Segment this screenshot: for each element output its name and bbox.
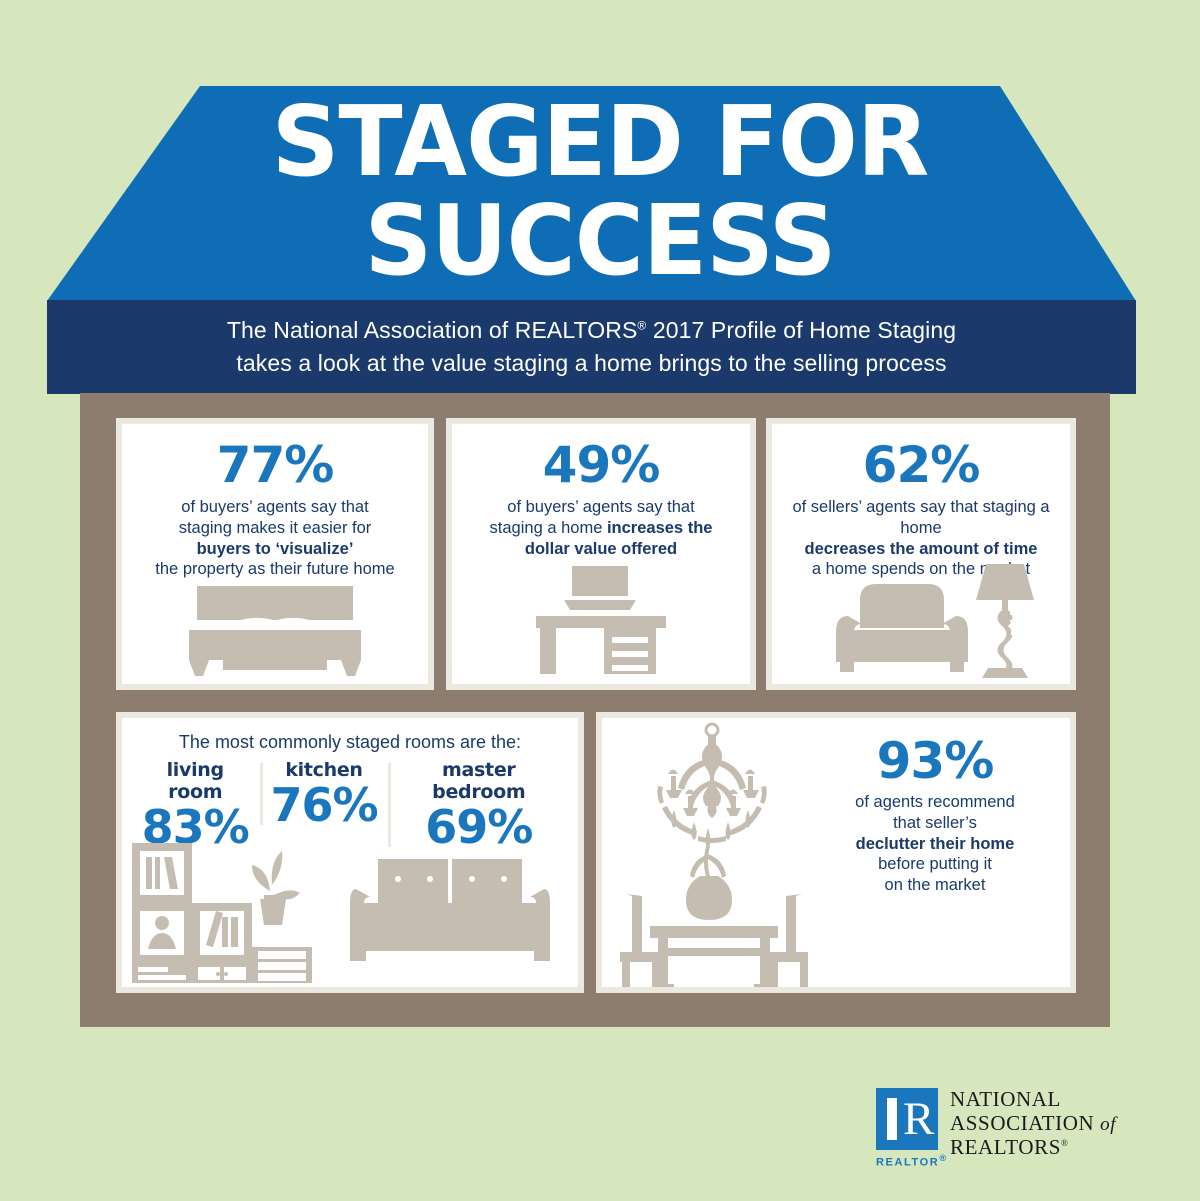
desc-line-4: before putting it (878, 855, 992, 873)
subtitle-line-1-b: 2017 Profile of Home Staging (646, 317, 956, 343)
desc-line-4: the property as their future home (155, 560, 394, 578)
desc-line-2: staging makes it easier for (179, 519, 372, 537)
realtor-wordmark: REALTOR® (876, 1153, 938, 1169)
armchair-lamp-icon (830, 556, 1040, 678)
logo-line-3-reg: ® (1061, 1138, 1068, 1148)
realtor-bar (887, 1098, 897, 1140)
stat-card-time-on-market: 62% of sellers’ agents say that staging … (766, 418, 1076, 690)
subtitle-line-2: takes a look at the value staging a home… (236, 347, 946, 380)
desc-line-2-bold: decreases the amount of time (805, 540, 1038, 558)
desc-line-2-a: staging a home (490, 519, 607, 537)
logo-line-2-italic: of (1100, 1114, 1116, 1135)
declutter-percent: 93% (822, 736, 1048, 786)
desc-line-3-bold: buyers to ‘visualize’ (197, 540, 354, 558)
realtor-wordmark-text: REALTOR (876, 1157, 939, 1169)
title-line-2: SUCCESS (18, 193, 1182, 288)
desc-line-3-bold: dollar value offered (525, 540, 677, 558)
subtitle-band: The National Association of REALTORS® 20… (47, 300, 1136, 394)
subtitle-line-1-a: The National Association of REALTORS (227, 317, 638, 343)
room-percent: 76% (270, 781, 377, 829)
room-master-bedroom: master bedroom 69% (388, 759, 570, 851)
logo-line-1: NATIONAL (950, 1088, 1116, 1112)
staged-rooms-card: The most commonly staged rooms are the: … (116, 712, 584, 993)
room-label: master bedroom (398, 759, 560, 803)
desc-line-2-bold: increases the (607, 519, 712, 537)
bed-icon-wrap (122, 582, 428, 678)
stat-description: of buyers’ agents say that staging makes… (122, 497, 428, 580)
logo-line-2: ASSOCIATION of (950, 1112, 1116, 1136)
logo-line-3-text: REALTORS (950, 1135, 1061, 1159)
desk-icon (526, 560, 676, 678)
realtor-mark: R REALTOR® (876, 1088, 938, 1169)
rooms-heading: The most commonly staged rooms are the: (122, 718, 578, 753)
declutter-description: of agents recommend that seller’s declut… (822, 792, 1048, 896)
bed-icon (175, 582, 375, 678)
desc-line-5: on the market (885, 876, 986, 894)
declutter-text: 93% of agents recommend that seller’s de… (822, 718, 1070, 987)
rooms-icon-group (122, 843, 578, 983)
armchair-lamp-icon-wrap (772, 556, 1070, 678)
chandelier-dining-icon (602, 718, 828, 987)
nar-logo-text: NATIONAL ASSOCIATION of REALTORS® (950, 1088, 1116, 1160)
desk-icon-wrap (452, 560, 750, 678)
realtor-block-icon: R (876, 1088, 938, 1150)
subtitle-line-1: The National Association of REALTORS® 20… (227, 314, 956, 347)
page-title: STAGED FOR SUCCESS (18, 94, 1182, 288)
nar-logo: R REALTOR® NATIONAL ASSOCIATION of REALT… (876, 1088, 1116, 1169)
desc-line-1: of buyers’ agents say that (181, 498, 368, 516)
desc-line-1: of agents recommend (855, 793, 1015, 811)
room-kitchen: kitchen 76% (260, 759, 387, 829)
stat-description: of buyers’ agents say that staging a hom… (452, 497, 750, 559)
rooms-list: living room 83% kitchen 76% master bedro… (122, 759, 578, 851)
declutter-card: 93% of agents recommend that seller’s de… (596, 712, 1076, 993)
desc-line-1: of buyers’ agents say that (507, 498, 694, 516)
stat-percent: 77% (122, 440, 428, 490)
stat-percent: 62% (772, 440, 1070, 490)
stat-card-visualize: 77% of buyers’ agents say that staging m… (116, 418, 434, 690)
declutter-icons (602, 718, 822, 987)
desc-line-1: of sellers’ agents say that staging a ho… (792, 498, 1049, 537)
infographic-page: STAGED FOR SUCCESS The National Associat… (0, 0, 1200, 1201)
room-label: living room (140, 759, 250, 803)
logo-line-3: REALTORS® (950, 1136, 1116, 1160)
logo-line-2-a: ASSOCIATION (950, 1111, 1100, 1135)
stat-card-dollar-value: 49% of buyers’ agents say that staging a… (446, 418, 756, 690)
realtor-r-glyph: R (903, 1098, 925, 1140)
title-line-1: STAGED FOR (18, 94, 1182, 189)
rooms-icons (122, 843, 578, 983)
desc-line-3-bold: declutter their home (856, 835, 1015, 853)
room-living-room: living room 83% (130, 759, 260, 851)
stat-percent: 49% (452, 440, 750, 490)
realtor-wordmark-reg: ® (939, 1153, 947, 1163)
desc-line-2: that seller’s (893, 814, 977, 832)
